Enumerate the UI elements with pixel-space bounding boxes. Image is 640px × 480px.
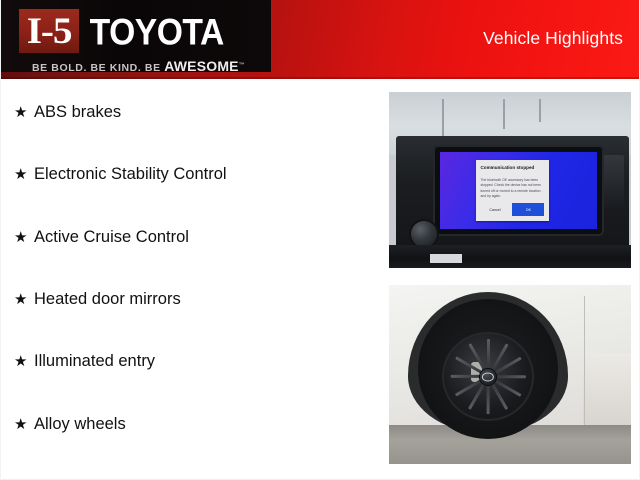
feature-label: Alloy wheels bbox=[34, 414, 126, 434]
alloy-rim bbox=[442, 332, 534, 422]
car-rocker-panel bbox=[583, 353, 631, 432]
list-item: ★ Heated door mirrors bbox=[1, 289, 371, 351]
photo-pole bbox=[503, 99, 505, 129]
star-bullet-icon: ★ bbox=[14, 167, 34, 182]
logo-i5-block: I-5 bbox=[19, 9, 79, 53]
feature-label: Active Cruise Control bbox=[34, 227, 189, 247]
feature-label: Electronic Stability Control bbox=[34, 164, 227, 184]
page-title: Vehicle Highlights bbox=[483, 28, 623, 49]
body-seam bbox=[584, 296, 585, 428]
vehicle-feature-list: ★ ABS brakes ★ Electronic Stability Cont… bbox=[1, 86, 371, 476]
dialog-cancel-button[interactable]: Cancel bbox=[482, 203, 508, 217]
list-item: ★ Alloy wheels bbox=[1, 414, 371, 476]
center-console bbox=[389, 245, 631, 268]
list-item: ★ Active Cruise Control bbox=[1, 227, 371, 289]
feature-label: Illuminated entry bbox=[34, 351, 155, 371]
tagline-emphasis: AWESOME bbox=[164, 58, 239, 74]
star-bullet-icon: ★ bbox=[14, 292, 34, 307]
photo-pole bbox=[539, 99, 541, 122]
dealer-logo: I-5 TOYOTA bbox=[19, 9, 231, 53]
logo-i5-text: I-5 bbox=[27, 13, 72, 50]
list-item: ★ Electronic Stability Control bbox=[1, 164, 371, 226]
dealer-logo-plate: I-5 TOYOTA BE BOLD. BE KIND. BE AWESOME™ bbox=[1, 0, 271, 72]
list-item: ★ Illuminated entry bbox=[1, 351, 371, 413]
communication-dialog: Communication stopped The bluetooth OE a… bbox=[476, 160, 549, 222]
feature-label: ABS brakes bbox=[34, 102, 121, 122]
wheel-hub bbox=[480, 369, 497, 385]
page-header: I-5 TOYOTA BE BOLD. BE KIND. BE AWESOME™… bbox=[1, 0, 640, 79]
toyota-emblem-icon bbox=[482, 373, 494, 382]
trademark-symbol: ™ bbox=[239, 63, 246, 69]
star-bullet-icon: ★ bbox=[14, 354, 34, 369]
list-item: ★ ABS brakes bbox=[1, 102, 371, 164]
dialog-title: Communication stopped bbox=[480, 165, 544, 170]
photo-infotainment-screen[interactable]: Communication stopped The bluetooth OE a… bbox=[389, 92, 631, 268]
photo-pole bbox=[442, 99, 444, 138]
photo-alloy-wheel[interactable] bbox=[389, 285, 631, 464]
dashboard-vent bbox=[602, 155, 624, 208]
star-bullet-icon: ★ bbox=[14, 230, 34, 245]
star-bullet-icon: ★ bbox=[14, 417, 34, 432]
tagline-lead: BE BOLD. BE KIND. BE bbox=[32, 62, 164, 74]
dialog-ok-button[interactable]: OK bbox=[512, 203, 544, 217]
logo-toyota-text: TOYOTA bbox=[90, 13, 224, 50]
vehicle-highlights-page: I-5 TOYOTA BE BOLD. BE KIND. BE AWESOME™… bbox=[0, 0, 640, 480]
console-label bbox=[430, 254, 461, 263]
volume-knob bbox=[411, 221, 437, 247]
dialog-body-text: The bluetooth OE accessory has been stop… bbox=[480, 178, 544, 199]
logo-toyota-block: TOYOTA bbox=[79, 9, 230, 53]
star-bullet-icon: ★ bbox=[14, 105, 34, 120]
dealer-tagline: BE BOLD. BE KIND. BE AWESOME™ bbox=[32, 58, 245, 74]
feature-label: Heated door mirrors bbox=[34, 289, 181, 309]
